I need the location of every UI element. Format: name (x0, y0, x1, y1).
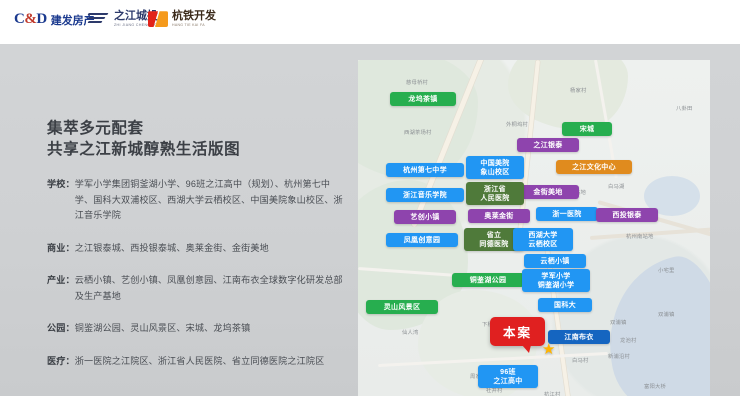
amenity-value: 浙一医院之江院区、浙江省人民医院、省立同德医院之江院区 (75, 354, 347, 370)
amenity-value: 学军小学集团铜釜湖小学、96班之江高中（规划）、杭州第七中学、国科大双浦校区、西… (75, 177, 347, 224)
subject-callout[interactable]: 本案 (490, 317, 545, 346)
map-poi-label: 人民医院 (480, 194, 509, 203)
amenity-label: 公园： (47, 321, 75, 337)
map-placename: 慈母桥村 (406, 78, 428, 86)
map-poi-label: 之江银泰 (533, 141, 562, 150)
map-poi-tag[interactable]: 之江银泰 (517, 138, 579, 152)
map-poi-tag[interactable]: 金街美地 (517, 185, 579, 199)
location-map[interactable]: 慈母桥村西湖茶场村外桐坞村杨家村白马湖三台岛地杭州南站地小宅里双浦镇仙人湾下杨村… (358, 60, 710, 396)
map-placename: 杭州南站地 (626, 232, 654, 240)
map-poi-label: 西湖大学 (528, 231, 557, 240)
map-poi-label: 龙坞茶镇 (408, 95, 437, 104)
map-poi-label: 象山校区 (480, 168, 509, 177)
map-poi-label: 奥莱金街 (484, 212, 513, 221)
logo-cnd: C&D 建发房产 (14, 11, 95, 28)
map-placename: 双浦镇 (658, 310, 675, 318)
map-placename: 白马湖 (608, 182, 625, 190)
map-poi-tag[interactable]: 云栖小镇 (524, 254, 586, 268)
map-poi-label: 浙江音乐学院 (403, 191, 447, 200)
cnd-mark-icon: C&D (14, 11, 47, 28)
map-poi-label: 铜鉴湖公园 (470, 276, 507, 285)
amenity-label: 商业： (47, 241, 75, 257)
map-poi-label: 省立 (487, 231, 502, 240)
map-placename: 仙人湾 (402, 328, 419, 336)
hangtie-pinyin: HANG TIE KAI FA (172, 24, 216, 28)
map-placename: 龙池村 (620, 336, 637, 344)
map-placename: 外桐坞村 (506, 120, 528, 128)
amenity-value: 云栖小镇、艺创小镇、凤凰创意园、江南布衣全球数字化研发总部及生产基地 (75, 273, 347, 304)
amenity-value: 铜鉴湖公园、灵山风景区、宋城、龙坞茶镇 (75, 321, 347, 337)
map-placename: 西湖茶场村 (404, 128, 432, 136)
page-title-line2: 共享之江新城醇熟生活版图 (47, 139, 347, 160)
amenity-label: 产业： (47, 273, 75, 304)
map-poi-tag[interactable]: 奥莱金街 (468, 209, 530, 223)
map-poi-label: 96班 (500, 368, 516, 377)
map-poi-tag[interactable]: 江南布衣 (548, 330, 610, 344)
amenity-row: 商业：之江银泰城、西投银泰城、奥莱金街、金街美地 (47, 241, 347, 257)
map-poi-label: 金街美地 (533, 188, 562, 197)
hangtie-label: 杭铁开发 (172, 11, 216, 22)
map-poi-label: 铜鉴湖小学 (538, 281, 575, 290)
amenity-list: 学校：学军小学集团铜釜湖小学、96班之江高中（规划）、杭州第七中学、国科大双浦校… (47, 177, 347, 369)
amenity-label: 学校： (47, 177, 75, 224)
map-poi-label: 宋城 (580, 125, 595, 134)
map-poi-label: 中国美院 (480, 159, 509, 168)
swoosh-icon (88, 12, 110, 26)
amenity-row: 产业：云栖小镇、艺创小镇、凤凰创意园、江南布衣全球数字化研发总部及生产基地 (47, 273, 347, 304)
star-icon: ★ (542, 342, 555, 357)
map-poi-tag[interactable]: 96班之江高中 (478, 365, 538, 388)
map-placename: 富阳大桥 (644, 382, 666, 390)
map-poi-label: 灵山风景区 (384, 303, 421, 312)
map-poi-tag[interactable]: 艺创小镇 (394, 210, 456, 224)
map-placename: 白马村 (572, 356, 589, 364)
left-copy: 集萃多元配套 共享之江新城醇熟生活版图 学校：学军小学集团铜釜湖小学、96班之江… (47, 118, 347, 369)
map-poi-tag[interactable]: 中国美院象山校区 (466, 156, 524, 179)
amenity-row: 医疗：浙一医院之江院区、浙江省人民医院、省立同德医院之江院区 (47, 354, 347, 370)
hangtie-mark-icon (148, 11, 168, 27)
map-poi-tag[interactable]: 西湖大学云栖校区 (513, 228, 573, 251)
map-poi-label: 学军小学 (541, 272, 570, 281)
map-placename: 八卦田 (676, 104, 693, 112)
map-poi-tag[interactable]: 西投银泰 (596, 208, 658, 222)
map-poi-label: 浙一医院 (552, 210, 581, 219)
slide-root: C&D 建发房产 之江城投 ZHI JIANG CHENG TOU 杭铁开发 H… (0, 0, 740, 410)
map-poi-label: 国科大 (554, 301, 576, 310)
map-poi-label: 云栖校区 (528, 240, 557, 249)
map-placename: 新浦沿村 (608, 352, 630, 360)
page-title-line1: 集萃多元配套 (47, 118, 347, 139)
map-poi-tag[interactable]: 灵山风景区 (366, 300, 438, 314)
map-placename: 杭江村 (544, 390, 561, 396)
map-placename: 杨家村 (570, 86, 587, 94)
map-poi-tag[interactable]: 国科大 (538, 298, 592, 312)
map-poi-label: 西投银泰 (612, 211, 641, 220)
map-placename: 小宅里 (658, 266, 675, 274)
map-poi-label: 艺创小镇 (410, 213, 439, 222)
map-poi-label: 同德医院 (479, 240, 508, 249)
map-poi-tag[interactable]: 铜鉴湖公园 (452, 273, 524, 287)
map-poi-tag[interactable]: 学军小学铜鉴湖小学 (522, 269, 590, 292)
map-poi-tag[interactable]: 浙江省人民医院 (466, 182, 524, 205)
map-poi-label: 浙江省 (484, 185, 506, 194)
map-poi-label: 凤凰创意园 (404, 236, 441, 245)
amenity-row: 公园：铜鉴湖公园、灵山风景区、宋城、龙坞茶镇 (47, 321, 347, 337)
footer-strip (0, 396, 740, 410)
map-placename: 双浦镇 (610, 318, 627, 326)
map-poi-tag[interactable]: 浙一医院 (536, 207, 598, 221)
map-poi-tag[interactable]: 宋城 (562, 122, 612, 136)
logo-bar: C&D 建发房产 之江城投 ZHI JIANG CHENG TOU 杭铁开发 H… (0, 0, 740, 44)
map-poi-label: 江南布衣 (564, 333, 593, 342)
map-poi-tag[interactable]: 龙坞茶镇 (390, 92, 456, 106)
map-poi-label: 杭州第七中学 (403, 166, 447, 175)
map-poi-label: 之江高中 (493, 377, 522, 386)
map-poi-label: 之江文化中心 (572, 163, 616, 172)
amenity-value: 之江银泰城、西投银泰城、奥莱金街、金街美地 (75, 241, 347, 257)
logo-hangtie: 杭铁开发 HANG TIE KAI FA (148, 11, 216, 28)
amenity-label: 医疗： (47, 354, 75, 370)
amenity-row: 学校：学军小学集团铜釜湖小学、96班之江高中（规划）、杭州第七中学、国科大双浦校… (47, 177, 347, 224)
map-poi-tag[interactable]: 凤凰创意园 (386, 233, 458, 247)
map-poi-tag[interactable]: 之江文化中心 (556, 160, 632, 174)
map-poi-tag[interactable]: 杭州第七中学 (386, 163, 464, 177)
map-poi-label: 云栖小镇 (540, 257, 569, 266)
map-poi-tag[interactable]: 浙江音乐学院 (386, 188, 464, 202)
